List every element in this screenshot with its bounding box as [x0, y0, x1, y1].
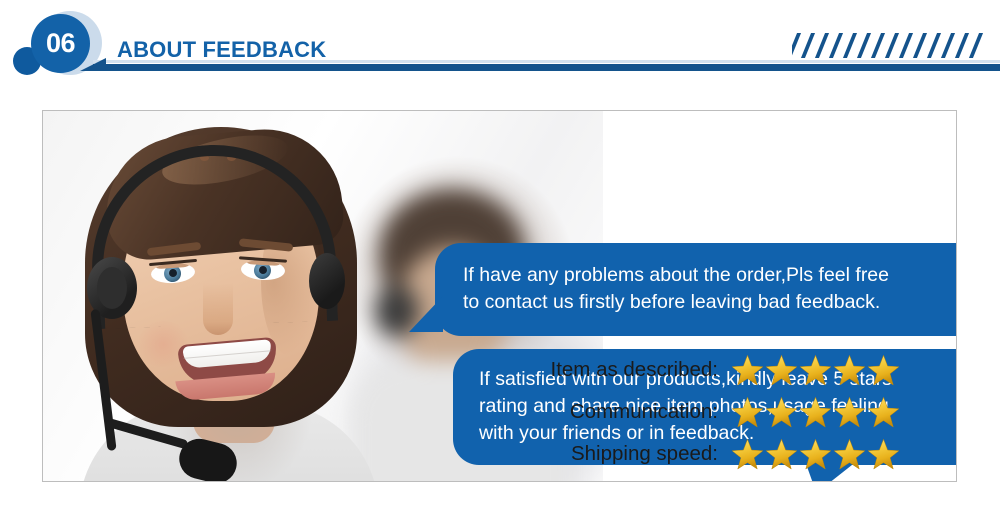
star-icon — [799, 438, 832, 471]
diagonal-stripe — [827, 33, 844, 58]
star-icon — [833, 354, 866, 387]
rating-row: Shipping speed: — [528, 433, 948, 475]
diagonal-stripe — [939, 33, 956, 58]
rating-row: Item as described: — [528, 349, 948, 391]
star-icon — [765, 396, 798, 429]
section-number-badge: 06 — [31, 14, 90, 73]
rating-label: Communication: — [528, 400, 731, 424]
diagonal-stripe — [855, 33, 872, 58]
star-icon — [867, 438, 900, 471]
diagonal-stripe — [967, 33, 984, 58]
star-icon — [867, 354, 900, 387]
speech-bubble-text: If have any problems about the order,Pls… — [463, 262, 957, 316]
section-header: 06 ABOUT FEEDBACK — [0, 0, 1000, 92]
star-icon — [765, 354, 798, 387]
header-rule-light — [93, 60, 1000, 63]
star-icon — [867, 396, 900, 429]
section-number: 06 — [46, 30, 75, 57]
star-icon — [731, 438, 764, 471]
content-frame: If have any problems about the order,Pls… — [42, 110, 957, 482]
diagonal-stripe — [911, 33, 928, 58]
star-icon — [765, 438, 798, 471]
rating-row: Communication: — [528, 391, 948, 433]
star-icon — [799, 354, 832, 387]
diagonal-stripe — [897, 33, 914, 58]
headset-earcup-right — [309, 253, 345, 309]
star-icon — [833, 396, 866, 429]
star-rating — [731, 396, 900, 429]
diagonal-stripe — [813, 33, 830, 58]
diagonal-stripes-decoration — [792, 33, 988, 58]
rating-label: Item as described: — [528, 358, 731, 382]
diagonal-stripe — [799, 33, 816, 58]
feedback-banner: 06 ABOUT FEEDBACK — [0, 0, 1000, 513]
header-rule — [93, 64, 1000, 71]
diagonal-stripe — [883, 33, 900, 58]
star-rating — [731, 354, 900, 387]
diagonal-stripe — [925, 33, 942, 58]
star-icon — [731, 396, 764, 429]
diagonal-stripe — [869, 33, 886, 58]
rating-label: Shipping speed: — [528, 442, 731, 466]
star-rating — [731, 438, 900, 471]
rating-list: Item as described:Communication:Shipping… — [528, 349, 948, 475]
star-icon — [833, 438, 866, 471]
speech-bubble-order-problem: If have any problems about the order,Pls… — [435, 243, 957, 336]
diagonal-stripe — [953, 33, 970, 58]
star-icon — [731, 354, 764, 387]
foreground-agent — [43, 111, 403, 481]
diagonal-stripe — [841, 33, 858, 58]
star-icon — [799, 396, 832, 429]
